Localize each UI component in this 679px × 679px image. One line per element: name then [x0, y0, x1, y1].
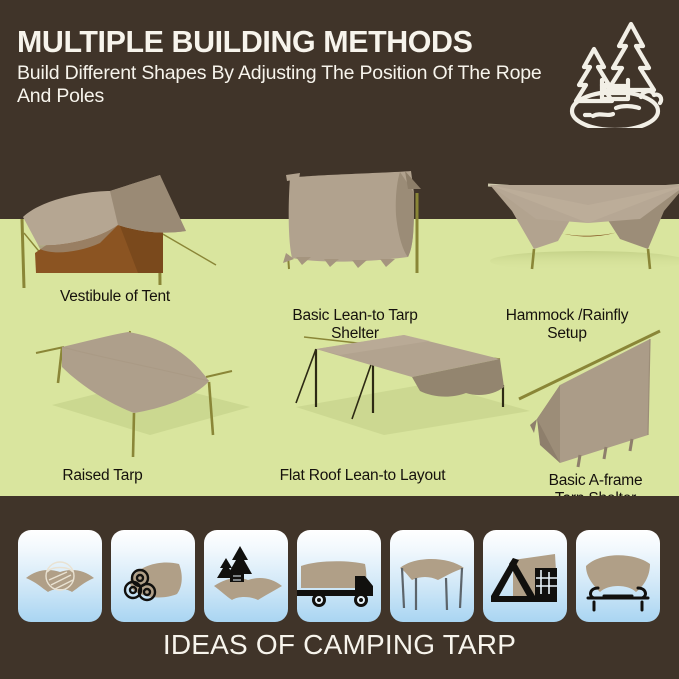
illustration-lean-to-tarp-shelter [283, 171, 421, 273]
thumb-tarp-forest-camping[interactable] [204, 530, 288, 622]
tarp-car-cover-icon [576, 530, 660, 622]
page-title: MULTIPLE BUILDING METHODS [17, 24, 472, 60]
cell-label-text: Hammock /Rainfly Setup [506, 307, 629, 343]
thumb-tarp-tent-shelter[interactable] [483, 530, 567, 622]
tarp-firewood-cover-icon [111, 530, 195, 622]
tarp-canopy-poles-icon [390, 530, 474, 622]
cell-label-text: Basic Lean-to Tarp Shelter [292, 307, 417, 343]
cell-label-text: Raised Tarp [62, 467, 142, 484]
thumb-tarp-sun-rain-shade[interactable] [18, 530, 102, 622]
cell-label-hammock-rainfly-setup: Hammock /Rainfly Setup [455, 288, 679, 344]
cell-label-raised-tarp: Raised Tarp [0, 467, 205, 486]
cell-label-flat-roof-lean-to-layout: Flat Roof Lean-to Layout [215, 467, 510, 486]
cell-label-text: Vestibule of Tent [60, 288, 170, 305]
thumb-tarp-car-cover[interactable] [576, 530, 660, 622]
infographic-page: MULTIPLE BUILDING METHODS Build Differen… [0, 0, 679, 679]
page-subtitle: Build Different Shapes By Adjusting The … [17, 62, 562, 108]
tarp-tent-shelter-icon [483, 530, 567, 622]
bottom-banner: IDEAS OF CAMPING TARP [0, 496, 679, 679]
thumb-tarp-canopy-poles[interactable] [390, 530, 474, 622]
illustration-a-frame-tarp-shelter [519, 331, 660, 467]
cell-label-vestibule-of-tent: Vestibule of Tent [0, 288, 230, 307]
illustration-raised-tarp [36, 331, 250, 457]
illustration-vestibule-of-tent [22, 175, 216, 288]
pine-trees-cabin-lake-logo-icon [561, 16, 669, 128]
cell-label-text: Flat Roof Lean-to Layout [280, 467, 446, 484]
thumbnail-strip [0, 530, 679, 622]
tarp-forest-camping-icon [204, 530, 288, 622]
thumb-tarp-truck-cover[interactable] [297, 530, 381, 622]
illustration-hammock-rainfly-setup [488, 185, 679, 271]
bottom-title: IDEAS OF CAMPING TARP [0, 629, 679, 661]
tarp-sun-rain-shade-icon [18, 530, 102, 622]
cell-label-a-frame-tarp-shelter: Basic A-frame Tarp Shelter [512, 453, 679, 496]
illustration-flat-roof-lean-to-layout [296, 335, 530, 435]
cell-label-text: Basic A-frame Tarp Shelter [549, 472, 643, 497]
cell-label-lean-to-tarp-shelter: Basic Lean-to Tarp Shelter [240, 288, 470, 344]
illustration-grid: Vestibule of Tent Basic Lean-to Tarp She… [0, 145, 679, 496]
tarp-truck-cover-icon [297, 530, 381, 622]
header-banner: MULTIPLE BUILDING METHODS Build Differen… [0, 0, 679, 145]
thumb-tarp-firewood-cover[interactable] [111, 530, 195, 622]
